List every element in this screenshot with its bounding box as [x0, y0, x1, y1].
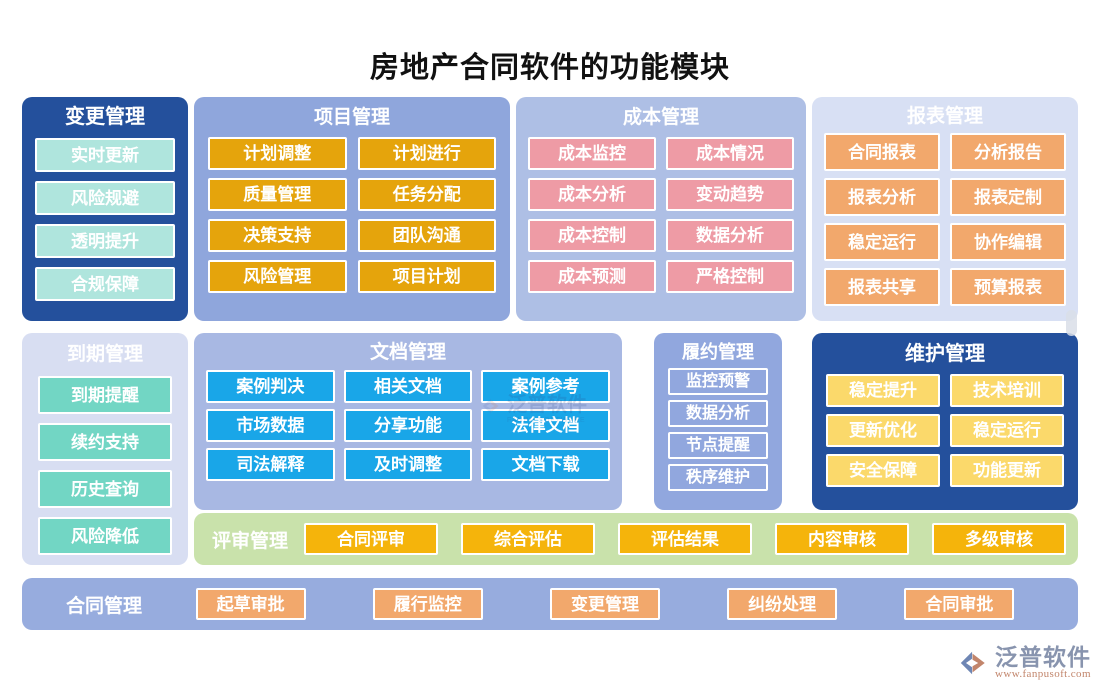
fanpu-brand-icon — [958, 648, 988, 678]
panel-title-document-management: 文档管理 — [194, 333, 622, 362]
brand-name: 泛普软件 — [995, 645, 1091, 669]
chip-project-4[interactable]: 任务分配 — [358, 178, 497, 211]
chip-group-project-management: 计划调整 计划进行 质量管理 任务分配 决策支持 团队沟通 风险管理 项目计划 — [194, 137, 510, 304]
chip-project-8[interactable]: 项目计划 — [358, 260, 497, 293]
chip-group-change-management: 实时更新 风险规避 透明提升 合规保障 — [22, 138, 188, 313]
panel-project-management[interactable]: 项目管理 计划调整 计划进行 质量管理 任务分配 决策支持 团队沟通 风险管理 … — [194, 97, 510, 321]
panel-report-management[interactable]: 报表管理 合同报表 分析报告 报表分析 报表定制 稳定运行 协作编辑 报表共享 … — [812, 97, 1078, 321]
chip-maint-3[interactable]: 更新优化 — [826, 414, 940, 447]
chip-project-3[interactable]: 质量管理 — [208, 178, 347, 211]
chip-perf-4[interactable]: 秩序维护 — [668, 464, 768, 491]
chip-perf-1[interactable]: 监控预警 — [668, 368, 768, 395]
chip-perf-2[interactable]: 数据分析 — [668, 400, 768, 427]
chip-contract-4[interactable]: 纠纷处理 — [727, 588, 837, 620]
chip-cost-4[interactable]: 变动趋势 — [666, 178, 794, 211]
chip-maint-2[interactable]: 技术培训 — [950, 374, 1064, 407]
chip-expire-2[interactable]: 续约支持 — [38, 423, 172, 461]
chip-expire-1[interactable]: 到期提醒 — [38, 376, 172, 414]
chip-cost-6[interactable]: 数据分析 — [666, 219, 794, 252]
chip-cost-2[interactable]: 成本情况 — [666, 137, 794, 170]
chip-cost-1[interactable]: 成本监控 — [528, 137, 656, 170]
panel-title-expiration-management: 到期管理 — [22, 333, 188, 364]
panel-cost-management[interactable]: 成本管理 成本监控 成本情况 成本分析 变动趋势 成本控制 数据分析 成本预测 … — [516, 97, 806, 321]
chip-review-3[interactable]: 评估结果 — [618, 523, 752, 555]
brand-logo-text: 泛普软件 www.fanpusoft.com — [995, 645, 1091, 681]
chip-group-review-management: 合同评审 综合评估 评估结果 内容审核 多级审核 — [304, 523, 1078, 555]
chip-report-3[interactable]: 报表分析 — [824, 178, 940, 216]
chip-maint-6[interactable]: 功能更新 — [950, 454, 1064, 487]
panel-expiration-management[interactable]: 到期管理 到期提醒 续约支持 历史查询 风险降低 — [22, 333, 188, 565]
chip-cost-7[interactable]: 成本预测 — [528, 260, 656, 293]
chip-group-expiration-management: 到期提醒 续约支持 历史查询 风险降低 — [22, 376, 188, 565]
panel-title-review-management: 评审管理 — [194, 526, 304, 553]
panel-title-performance-management: 履约管理 — [654, 333, 782, 361]
panel-title-change-management: 变更管理 — [22, 97, 188, 127]
chip-project-7[interactable]: 风险管理 — [208, 260, 347, 293]
chip-report-2[interactable]: 分析报告 — [950, 133, 1066, 171]
chip-change-2[interactable]: 风险规避 — [35, 181, 175, 215]
chip-review-4[interactable]: 内容审核 — [775, 523, 909, 555]
chip-expire-3[interactable]: 历史查询 — [38, 470, 172, 508]
chip-expire-4[interactable]: 风险降低 — [38, 517, 172, 555]
panel-maintenance-management[interactable]: 维护管理 稳定提升 技术培训 更新优化 稳定运行 安全保障 功能更新 — [812, 333, 1078, 510]
chip-change-4[interactable]: 合规保障 — [35, 267, 175, 301]
chip-change-1[interactable]: 实时更新 — [35, 138, 175, 172]
brand-logo: 泛普软件 www.fanpusoft.com — [958, 645, 1091, 681]
decorative-nub — [1066, 310, 1077, 336]
panel-review-management[interactable]: 评审管理 合同评审 综合评估 评估结果 内容审核 多级审核 — [194, 513, 1078, 565]
chip-review-2[interactable]: 综合评估 — [461, 523, 595, 555]
panel-title-project-management: 项目管理 — [194, 97, 510, 127]
chip-doc-8[interactable]: 及时调整 — [344, 448, 473, 481]
chip-cost-8[interactable]: 严格控制 — [666, 260, 794, 293]
chip-doc-1[interactable]: 案例判决 — [206, 370, 335, 403]
chip-cost-3[interactable]: 成本分析 — [528, 178, 656, 211]
chip-group-performance-management: 监控预警 数据分析 节点提醒 秩序维护 — [654, 368, 782, 500]
chip-report-7[interactable]: 报表共享 — [824, 268, 940, 306]
panel-title-contract-management: 合同管理 — [22, 591, 162, 618]
diagram-canvas: 房地产合同软件的功能模块 变更管理 实时更新 风险规避 透明提升 合规保障 项目… — [0, 0, 1100, 700]
chip-report-5[interactable]: 稳定运行 — [824, 223, 940, 261]
chip-doc-6[interactable]: 法律文档 — [481, 409, 610, 442]
panel-document-management[interactable]: 文档管理 案例判决 相关文档 案例参考 市场数据 分享功能 法律文档 司法解释 … — [194, 333, 622, 510]
page-title: 房地产合同软件的功能模块 — [0, 44, 1100, 86]
chip-report-8[interactable]: 预算报表 — [950, 268, 1066, 306]
chip-group-report-management: 合同报表 分析报告 报表分析 报表定制 稳定运行 协作编辑 报表共享 预算报表 — [812, 133, 1078, 316]
chip-contract-1[interactable]: 起草审批 — [196, 588, 306, 620]
chip-group-contract-management: 起草审批 履行监控 变更管理 纠纷处理 合同审批 — [162, 588, 1078, 620]
chip-group-cost-management: 成本监控 成本情况 成本分析 变动趋势 成本控制 数据分析 成本预测 严格控制 — [516, 137, 806, 304]
chip-change-3[interactable]: 透明提升 — [35, 224, 175, 258]
chip-doc-3[interactable]: 案例参考 — [481, 370, 610, 403]
chip-project-5[interactable]: 决策支持 — [208, 219, 347, 252]
chip-doc-5[interactable]: 分享功能 — [344, 409, 473, 442]
chip-report-1[interactable]: 合同报表 — [824, 133, 940, 171]
chip-contract-5[interactable]: 合同审批 — [904, 588, 1014, 620]
chip-doc-9[interactable]: 文档下载 — [481, 448, 610, 481]
chip-maint-5[interactable]: 安全保障 — [826, 454, 940, 487]
chip-report-6[interactable]: 协作编辑 — [950, 223, 1066, 261]
chip-project-1[interactable]: 计划调整 — [208, 137, 347, 170]
chip-contract-3[interactable]: 变更管理 — [550, 588, 660, 620]
panel-performance-management[interactable]: 履约管理 监控预警 数据分析 节点提醒 秩序维护 — [654, 333, 782, 510]
panel-title-maintenance-management: 维护管理 — [812, 333, 1078, 364]
panel-title-cost-management: 成本管理 — [516, 97, 806, 127]
chip-review-5[interactable]: 多级审核 — [932, 523, 1066, 555]
chip-group-document-management: 案例判决 相关文档 案例参考 市场数据 分享功能 法律文档 司法解释 及时调整 … — [194, 370, 622, 491]
chip-review-1[interactable]: 合同评审 — [304, 523, 438, 555]
panel-contract-management[interactable]: 合同管理 起草审批 履行监控 变更管理 纠纷处理 合同审批 — [22, 578, 1078, 630]
chip-perf-3[interactable]: 节点提醒 — [668, 432, 768, 459]
chip-maint-1[interactable]: 稳定提升 — [826, 374, 940, 407]
chip-contract-2[interactable]: 履行监控 — [373, 588, 483, 620]
brand-url: www.fanpusoft.com — [995, 669, 1091, 681]
chip-doc-2[interactable]: 相关文档 — [344, 370, 473, 403]
chip-report-4[interactable]: 报表定制 — [950, 178, 1066, 216]
chip-project-6[interactable]: 团队沟通 — [358, 219, 497, 252]
panel-change-management[interactable]: 变更管理 实时更新 风险规避 透明提升 合规保障 — [22, 97, 188, 321]
chip-doc-4[interactable]: 市场数据 — [206, 409, 335, 442]
panel-title-report-management: 报表管理 — [812, 97, 1078, 126]
chip-project-2[interactable]: 计划进行 — [358, 137, 497, 170]
chip-doc-7[interactable]: 司法解释 — [206, 448, 335, 481]
chip-group-maintenance-management: 稳定提升 技术培训 更新优化 稳定运行 安全保障 功能更新 — [812, 374, 1078, 498]
chip-cost-5[interactable]: 成本控制 — [528, 219, 656, 252]
chip-maint-4[interactable]: 稳定运行 — [950, 414, 1064, 447]
